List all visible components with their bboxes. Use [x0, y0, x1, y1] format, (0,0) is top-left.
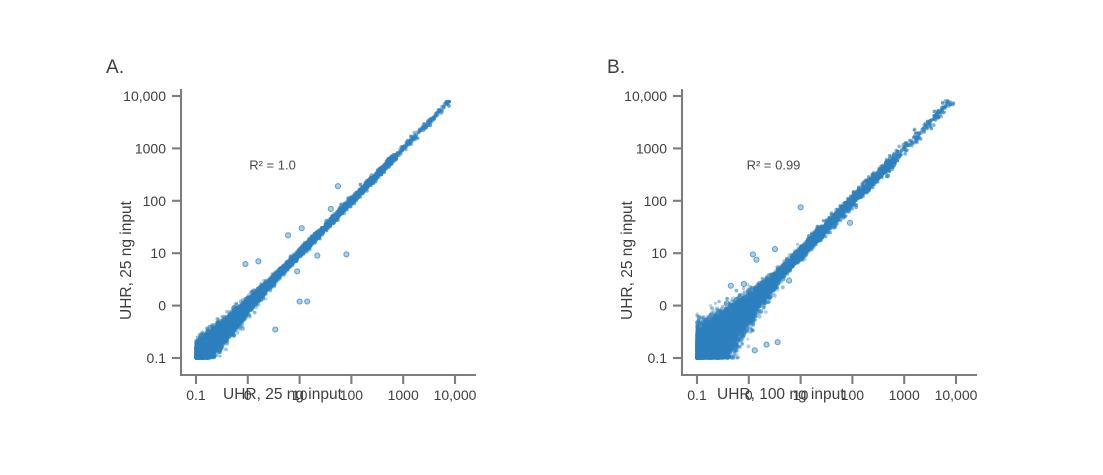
- panel-a-yaxis-label: UHR, 25 ng input: [118, 201, 136, 320]
- axes: 0.1010100100010,0000.1010100100010,000: [123, 88, 476, 403]
- panel-b-xaxis-label: UHR, 100 ng input: [717, 386, 845, 404]
- r-squared-annotation: R² = 1.0: [249, 157, 296, 172]
- figure-container: A. 0.1010100100010,0000.1010100100010,00…: [0, 0, 1103, 475]
- panel-b: B. 0.1010100100010,0000.1010100100010,00…: [551, 0, 1102, 475]
- panel-b-yaxis-label: UHR, 25 ng input: [619, 201, 637, 320]
- r-squared-annotation: R² = 0.99: [747, 157, 801, 172]
- scatter-points: [194, 100, 451, 360]
- panel-a-xaxis-label: UHR, 25 ng input: [223, 386, 342, 404]
- scatter-points: [695, 99, 955, 360]
- panel-a: A. 0.1010100100010,0000.1010100100010,00…: [0, 0, 551, 475]
